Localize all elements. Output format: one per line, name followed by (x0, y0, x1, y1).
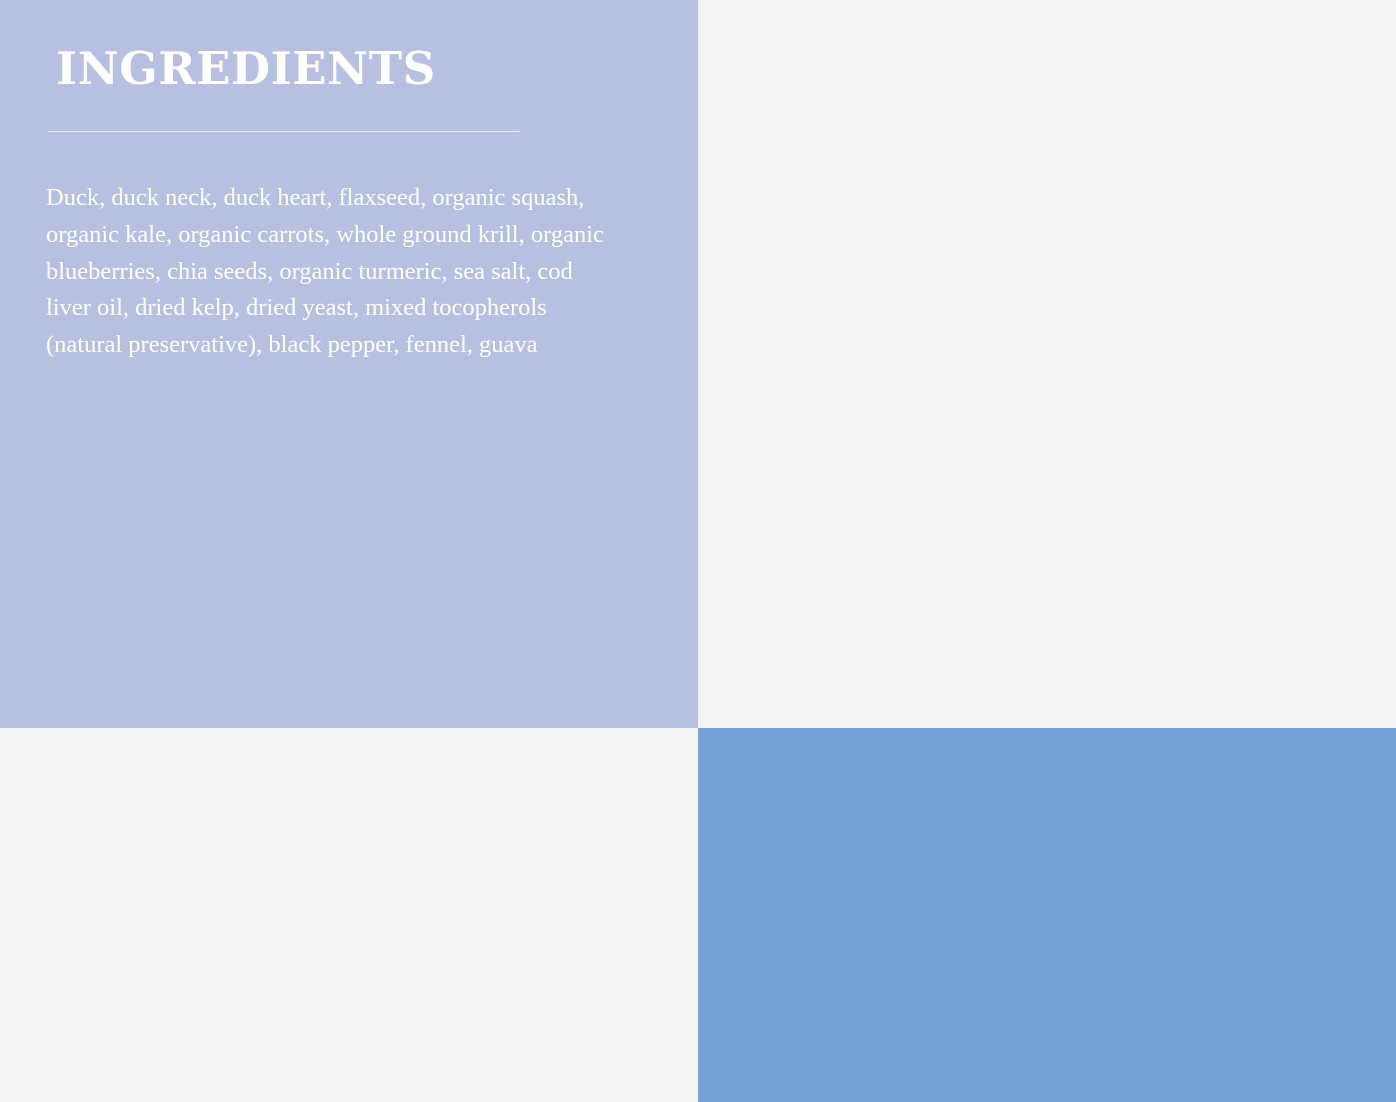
ingredients-title: INGREDIENTS (56, 46, 436, 91)
ingredients-divider (48, 131, 520, 132)
calorie-content-panel: CALORIE CONTENT Metabolizable Energy:441… (698, 728, 1396, 1102)
transitioning-panel: TRANSITIONING To start, mix a few nugget… (0, 728, 698, 1102)
nutrition-label-grid: INGREDIENTS Duck, duck neck, duck heart,… (0, 0, 1396, 1102)
ingredients-text: Duck, duck neck, duck heart, flaxseed, o… (46, 180, 616, 364)
ingredients-panel: INGREDIENTS Duck, duck neck, duck heart,… (0, 0, 698, 728)
guaranteed-analysis-panel: GUARANTEED ANALYSIS Crude protein (min).… (698, 0, 1396, 728)
